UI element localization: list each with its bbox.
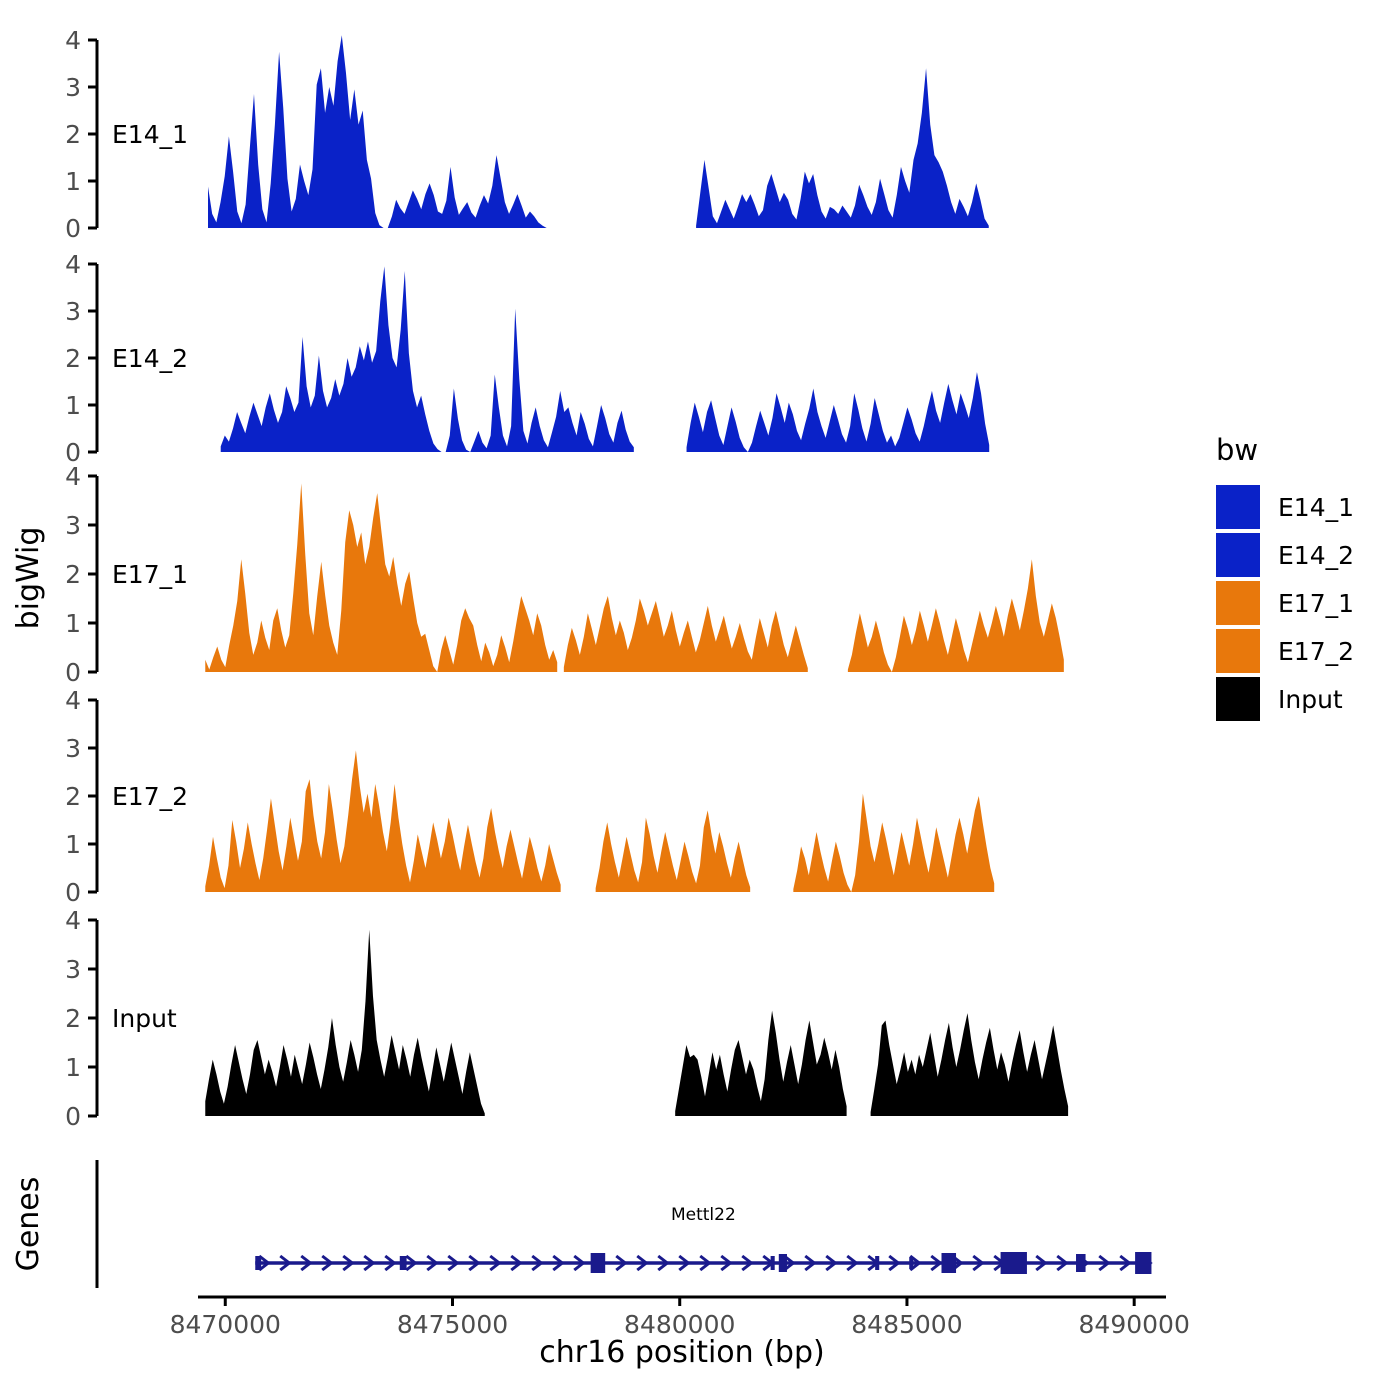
gene-exon-1	[255, 1256, 261, 1270]
track-area-e17_2-seg1	[596, 810, 751, 892]
track-area-e14_2-seg1	[687, 372, 990, 452]
legend-item-e14_1[interactable]: E14_1	[1216, 485, 1354, 529]
y-tick-label-e17_2-4: 4	[65, 686, 81, 715]
track-area-e17_1-seg2	[848, 559, 1064, 672]
legend-item-e14_2[interactable]: E14_2	[1216, 533, 1354, 577]
track-area-e17_2-seg2	[793, 794, 994, 892]
panel-label-e14_2: E14_2	[112, 344, 188, 373]
track-area-e14_2-seg0	[221, 266, 634, 452]
legend-title: bw	[1216, 433, 1258, 467]
track-area-input-seg2	[871, 1013, 1069, 1116]
genome-browser-figure: bigWigGenes01234E14_101234E14_201234E17_…	[0, 0, 1400, 1400]
y-tick-label-e14_2-2: 2	[65, 344, 81, 373]
gene-exon-6	[875, 1256, 879, 1270]
y-tick-label-e17_2-0: 0	[65, 878, 81, 907]
y-tick-label-e14_1-3: 3	[65, 73, 81, 102]
gene-exon-4	[771, 1256, 775, 1270]
gene-exon-3	[591, 1253, 606, 1273]
gene-exon-7	[909, 1257, 913, 1269]
y-tick-label-e17_1-4: 4	[65, 462, 81, 491]
panel-label-e17_2: E17_2	[112, 782, 188, 811]
y-tick-label-e17_2-3: 3	[65, 734, 81, 763]
legend: bwE14_1E14_2E17_1E17_2Input	[1216, 433, 1354, 721]
y-tick-label-e14_1-2: 2	[65, 120, 81, 149]
y-axis-title-bigwig: bigWig	[11, 527, 46, 630]
track-area-input-seg0	[205, 930, 484, 1116]
gene-exon-9	[1001, 1252, 1027, 1274]
figure-svg: bigWigGenes01234E14_101234E14_201234E17_…	[0, 0, 1400, 1400]
x-tick-label-8490000: 8490000	[1079, 1310, 1190, 1339]
track-panel-e17_1: 01234E17_1	[65, 462, 1064, 687]
track-area-e14_1-seg1	[696, 68, 989, 228]
track-area-e17_2-seg0	[205, 750, 560, 892]
panel-label-e14_1: E14_1	[112, 120, 188, 149]
y-tick-label-e14_2-3: 3	[65, 297, 81, 326]
track-panel-e17_2: 01234E17_2	[65, 686, 994, 907]
y-tick-label-input-0: 0	[65, 1102, 81, 1131]
panel-label-input: Input	[112, 1004, 177, 1033]
legend-swatch-e17_1	[1216, 581, 1260, 625]
legend-label-e17_1: E17_1	[1278, 589, 1354, 618]
track-area-input-seg1	[675, 1011, 846, 1116]
x-axis-title: chr16 position (bp)	[539, 1335, 824, 1370]
legend-swatch-input	[1216, 677, 1260, 721]
track-area-e17_1-seg1	[564, 596, 808, 672]
gene-exon-10	[1076, 1254, 1086, 1272]
y-tick-label-input-2: 2	[65, 1004, 81, 1033]
gene-exon-8	[941, 1253, 956, 1273]
legend-item-input[interactable]: Input	[1216, 677, 1343, 721]
legend-label-e14_1: E14_1	[1278, 493, 1354, 522]
gene-track-panel: Mettl22	[97, 1160, 1151, 1288]
y-tick-label-e14_1-0: 0	[65, 214, 81, 243]
x-tick-label-8470000: 8470000	[170, 1310, 281, 1339]
gene-name-label: Mettl22	[671, 1205, 736, 1225]
track-area-e17_1-seg0	[205, 483, 557, 672]
gene-exon-5	[779, 1254, 787, 1272]
legend-item-e17_2[interactable]: E17_2	[1216, 629, 1354, 673]
y-tick-label-input-1: 1	[65, 1053, 81, 1082]
track-panel-e14_1: 01234E14_1	[65, 26, 989, 243]
x-tick-label-8475000: 8475000	[397, 1310, 508, 1339]
legend-swatch-e17_2	[1216, 629, 1260, 673]
y-tick-label-e17_2-1: 1	[65, 830, 81, 859]
track-panel-e14_2: 01234E14_2	[65, 250, 989, 467]
y-tick-label-e17_1-3: 3	[65, 511, 81, 540]
y-tick-label-e17_1-1: 1	[65, 609, 81, 638]
x-tick-label-8485000: 8485000	[851, 1310, 962, 1339]
gene-exon-2	[400, 1256, 407, 1270]
track-area-e14_1-seg0	[208, 35, 547, 228]
y-tick-label-e17_2-2: 2	[65, 782, 81, 811]
y-tick-label-e14_1-4: 4	[65, 26, 81, 55]
legend-swatch-e14_1	[1216, 485, 1260, 529]
y-tick-label-input-3: 3	[65, 955, 81, 984]
y-tick-label-e17_1-0: 0	[65, 658, 81, 687]
track-panel-input: 01234Input	[65, 906, 1068, 1131]
legend-label-e14_2: E14_2	[1278, 541, 1354, 570]
y-axis-title-genes: Genes	[11, 1177, 46, 1272]
y-tick-label-e14_1-1: 1	[65, 167, 81, 196]
panel-label-e17_1: E17_1	[112, 560, 188, 589]
legend-swatch-e14_2	[1216, 533, 1260, 577]
gene-exon-11	[1135, 1252, 1151, 1274]
legend-label-e17_2: E17_2	[1278, 637, 1354, 666]
y-tick-label-input-4: 4	[65, 906, 81, 935]
y-tick-label-e17_1-2: 2	[65, 560, 81, 589]
y-tick-label-e14_2-1: 1	[65, 391, 81, 420]
legend-item-e17_1[interactable]: E17_1	[1216, 581, 1354, 625]
legend-label-input: Input	[1278, 685, 1343, 714]
y-tick-label-e14_2-4: 4	[65, 250, 81, 279]
